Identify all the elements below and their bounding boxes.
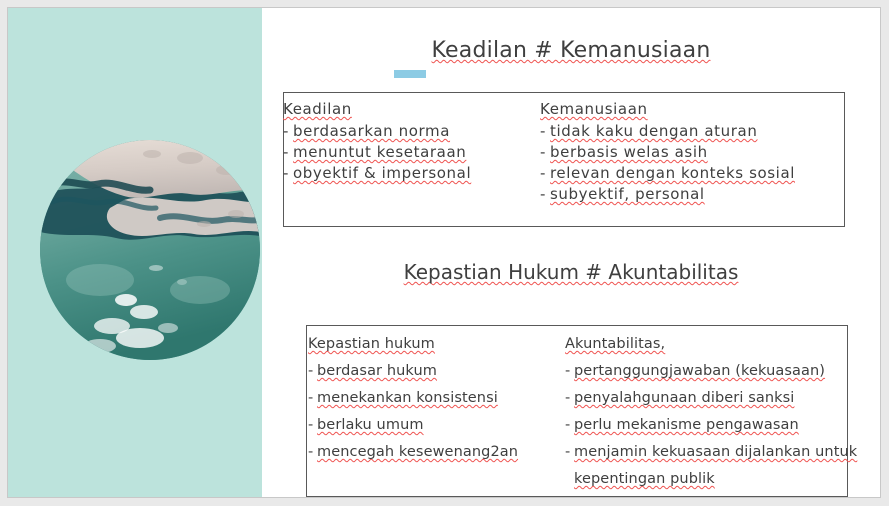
page-title: Keadilan # Kemanusiaan [432, 38, 711, 63]
bullet-dash: - [565, 439, 574, 466]
list-item-text: obyektif & impersonal [293, 164, 471, 182]
list-item-text: menuntut kesetaraan [293, 143, 466, 161]
bullet-dash: - [565, 412, 574, 439]
list-item: -subyektif, personal [540, 184, 795, 205]
list-item: -berdasarkan norma [283, 121, 471, 142]
bullet-dash: - [308, 358, 317, 385]
list-item: -menjamin kekuasaan dijalankan untuk [565, 439, 857, 466]
bullet-dash: - [540, 142, 550, 163]
column-heading: Kepastian hukum [308, 331, 518, 358]
bullet-dash: - [283, 121, 293, 142]
list-item-text: berdasar hukum [317, 363, 437, 379]
list-item: -menuntut kesetaraan [283, 142, 471, 163]
title-text: Keadilan # Kemanusiaan [432, 38, 711, 63]
list-item-text: tidak kaku dengan aturan [550, 122, 757, 140]
list-item: -relevan dengan konteks sosial [540, 163, 795, 184]
list-item-text: menekankan konsistensi [317, 390, 498, 406]
bullet-dash: - [283, 163, 293, 184]
list-item-continuation: kepentingan publik [565, 466, 857, 493]
list-item: -berbasis welas asih [540, 142, 795, 163]
list-item-text: mencegah kesewenang2an [317, 444, 518, 460]
comparison-box-legalcertainty-accountability: Kepastian hukum -berdasar hukum -menekan… [306, 325, 848, 497]
left-decorative-panel [8, 8, 262, 497]
list-item-text: pertanggungjawaban (kekuasaan) [574, 363, 825, 379]
slide-content: Keadilan # Kemanusiaan Keadilan -berdasa… [262, 8, 880, 497]
bullet-dash: - [565, 385, 574, 412]
column-kepastian-hukum: Kepastian hukum -berdasar hukum -menekan… [308, 331, 518, 466]
list-item: -pertanggungjawaban (kekuasaan) [565, 358, 857, 385]
column-heading: Akuntabilitas, [565, 331, 857, 358]
list-item-text: subyektif, personal [550, 185, 705, 203]
list-item: -menekankan konsistensi [308, 385, 518, 412]
list-item-text: perlu mekanisme pengawasan [574, 417, 799, 433]
section-subtitle: Kepastian Hukum # Akuntabilitas [404, 260, 739, 284]
bullet-dash: - [308, 412, 317, 439]
comparison-box-justice-humanity: Keadilan -berdasarkan norma -menuntut ke… [283, 92, 845, 227]
list-item-text: menjamin kekuasaan dijalankan untuk [574, 444, 857, 460]
bullet-dash: - [565, 358, 574, 385]
list-item: -berlaku umum [308, 412, 518, 439]
list-item-text: penyalahgunaan diberi sanksi [574, 390, 794, 406]
list-item: -mencegah kesewenang2an [308, 439, 518, 466]
slide-canvas: Keadilan # Kemanusiaan Keadilan -berdasa… [7, 7, 881, 498]
column-keadilan: Keadilan -berdasarkan norma -menuntut ke… [283, 99, 471, 184]
column-akuntabilitas: Akuntabilitas, -pertanggungjawaban (keku… [565, 331, 857, 493]
list-item-text: kepentingan publik [574, 471, 715, 487]
circular-photo [40, 140, 260, 360]
list-item: -penyalahgunaan diberi sanksi [565, 385, 857, 412]
column-kemanusiaan: Kemanusiaan -tidak kaku dengan aturan -b… [540, 99, 795, 205]
list-item: -perlu mekanisme pengawasan [565, 412, 857, 439]
list-item-text: relevan dengan konteks sosial [550, 164, 795, 182]
list-item-text: berlaku umum [317, 417, 424, 433]
title-row: Keadilan # Kemanusiaan [262, 38, 880, 63]
bullet-dash: - [540, 184, 550, 205]
accent-bar [394, 70, 426, 78]
subtitle-text: Kepastian Hukum # Akuntabilitas [404, 260, 739, 284]
bullet-dash: - [308, 385, 317, 412]
column-heading: Kemanusiaan [540, 99, 795, 120]
list-item: -tidak kaku dengan aturan [540, 121, 795, 142]
list-item-text: berdasarkan norma [293, 122, 450, 140]
list-item: -berdasar hukum [308, 358, 518, 385]
bullet-dash: - [283, 142, 293, 163]
list-item: -obyektif & impersonal [283, 163, 471, 184]
bullet-dash: - [540, 121, 550, 142]
subtitle-row: Kepastian Hukum # Akuntabilitas [262, 260, 880, 284]
bullet-dash: - [540, 163, 550, 184]
bullet-dash: - [308, 439, 317, 466]
photo-illustration [40, 140, 260, 360]
list-item-text: berbasis welas asih [550, 143, 708, 161]
column-heading: Keadilan [283, 99, 471, 120]
